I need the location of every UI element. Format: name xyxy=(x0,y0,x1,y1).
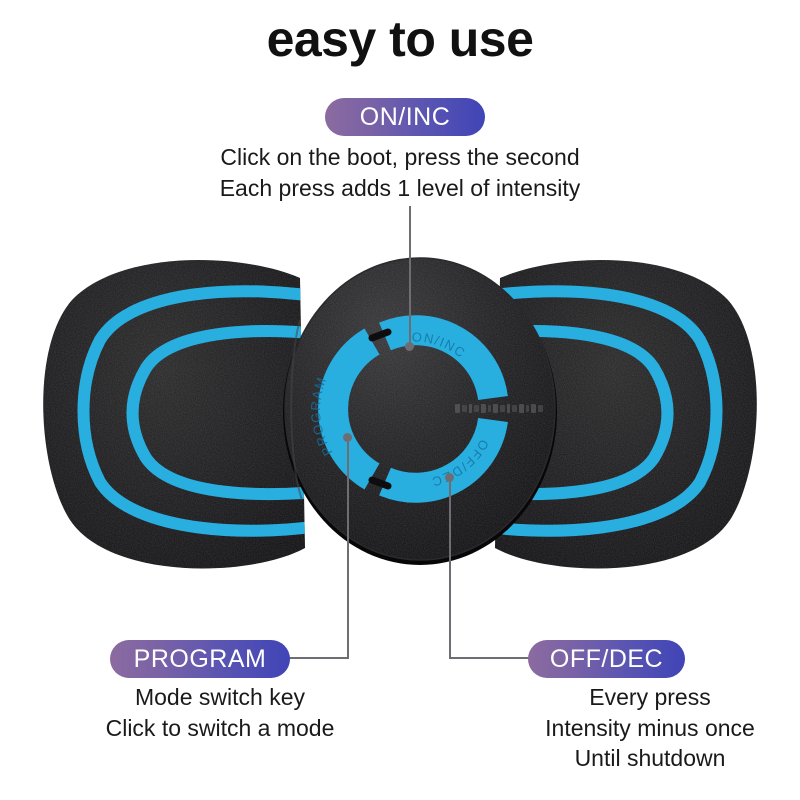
leader-line-program-vertical xyxy=(347,437,349,659)
product-instruction-graphic: easy to use xyxy=(0,0,800,800)
caption-program-line-2: Click to switch a mode xyxy=(0,713,440,744)
caption-off-dec-line-1: Every press xyxy=(430,682,800,713)
caption-on-inc-line-2: Each press adds 1 level of intensity xyxy=(0,173,800,204)
leader-dot-on-inc xyxy=(405,342,414,351)
badge-on-inc: ON/INC xyxy=(325,98,485,136)
caption-off-dec-line-2: Intensity minus once xyxy=(430,713,800,744)
caption-on-inc-line-1: Click on the boot, press the second xyxy=(0,142,800,173)
leader-line-program-horizontal xyxy=(289,657,349,659)
leader-dot-program xyxy=(343,433,352,442)
caption-program-line-1: Mode switch key xyxy=(0,682,440,713)
badge-program: PROGRAM xyxy=(110,640,290,678)
leader-line-on-inc xyxy=(409,206,411,347)
caption-on-inc: Click on the boot, press the second Each… xyxy=(0,142,800,203)
leader-dot-off-dec xyxy=(445,473,454,482)
leader-line-off-dec-vertical xyxy=(449,477,451,659)
badge-off-dec: OFF/DEC xyxy=(528,640,685,678)
caption-program: Mode switch key Click to switch a mode xyxy=(0,682,440,743)
leader-line-off-dec-horizontal xyxy=(449,657,529,659)
caption-off-dec-line-3: Until shutdown xyxy=(430,743,800,774)
caption-off-dec: Every press Intensity minus once Until s… xyxy=(430,682,800,774)
emboss-marks xyxy=(455,404,555,413)
